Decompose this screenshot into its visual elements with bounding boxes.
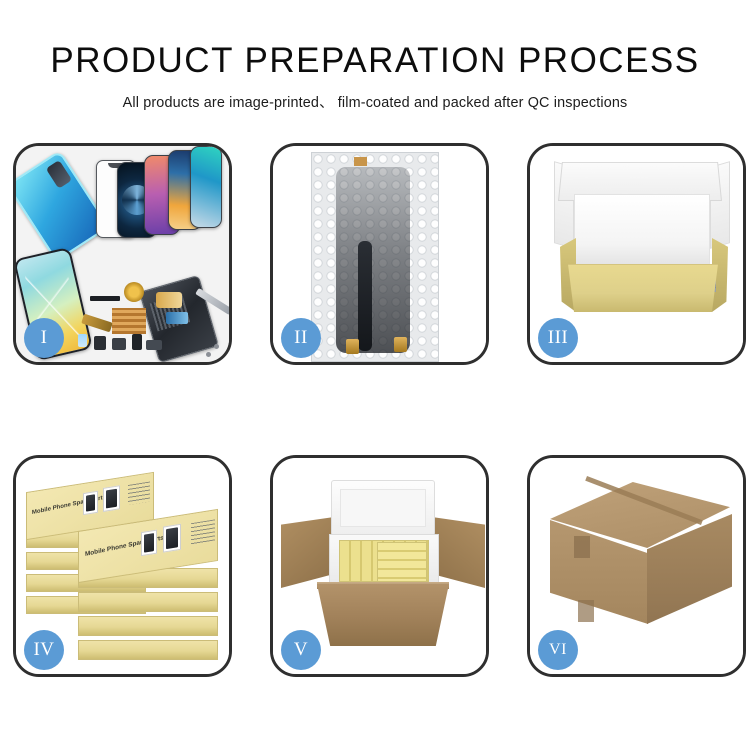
stacked-box-edge [78, 616, 218, 636]
chip-icon [94, 336, 106, 350]
process-step-card-4: Mobile Phone Spare Parts Mobile Phone Sp… [13, 455, 232, 677]
packed-boxes-icon [377, 542, 427, 582]
step-badge-5: V [281, 630, 321, 670]
tape-label-icon [354, 157, 367, 166]
connector-strip-icon [90, 296, 120, 301]
stacked-box-edge [78, 640, 218, 660]
chip-icon [146, 340, 162, 350]
process-step-card-2: II [270, 143, 489, 365]
carton-front-icon [317, 584, 449, 646]
flex-cable-blue-icon [166, 312, 188, 324]
stacked-box-edge [78, 592, 218, 612]
foam-sheet-icon [574, 194, 710, 266]
step-badge-6: VI [538, 630, 578, 670]
process-step-card-6: VI [527, 455, 746, 677]
box-window-icon [163, 524, 181, 553]
process-step-card-5: V [270, 455, 489, 677]
component-tray-icon [112, 308, 146, 334]
carton-tape-icon [578, 600, 594, 622]
product-preparation-infographic: PRODUCT PREPARATION PROCESS All products… [0, 0, 750, 750]
step-badge-3: III [538, 318, 578, 358]
connector-icon [394, 337, 407, 352]
box-front-panel-icon [568, 264, 718, 312]
wireless-coil-icon [124, 282, 144, 302]
foam-box-lid-icon [331, 480, 435, 536]
small-display-icon [78, 334, 87, 347]
screw-icon [214, 344, 219, 349]
carton-tape-icon [574, 536, 590, 558]
process-steps-grid: I II [13, 143, 745, 677]
cable-icon [358, 241, 372, 351]
process-step-card-1: I [13, 143, 232, 365]
step-badge-1: I [24, 318, 64, 358]
chip-icon [132, 334, 142, 350]
step-badge-4: IV [24, 630, 64, 670]
box-spec-lines [191, 519, 215, 545]
bubble-wrap-icon [311, 152, 439, 362]
header: PRODUCT PREPARATION PROCESS All products… [0, 0, 750, 112]
phone-display-teal-icon [190, 146, 222, 228]
chip-icon [112, 338, 126, 350]
page-title: PRODUCT PREPARATION PROCESS [0, 42, 750, 80]
box-spec-lines [128, 481, 150, 504]
flex-cable-gold-icon [156, 292, 182, 308]
wrapped-product-icon [336, 167, 410, 353]
box-window-icon [83, 491, 98, 515]
step-badge-2: II [281, 318, 321, 358]
connector-icon [346, 339, 359, 354]
process-step-card-3: III [527, 143, 746, 365]
page-subtitle: All products are image-printed、 film-coa… [0, 91, 750, 112]
box-window-icon [141, 530, 157, 557]
screw-icon [206, 352, 211, 357]
box-window-icon [103, 485, 120, 512]
